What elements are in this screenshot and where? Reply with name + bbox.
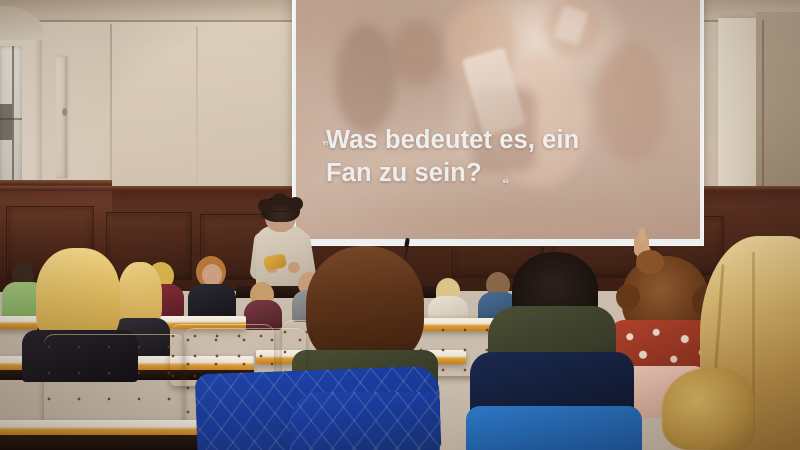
- student-face: [202, 264, 222, 286]
- wall-fixture: [62, 108, 67, 116]
- puffer-jacket-blue-panel: [466, 406, 642, 450]
- wall-pilaster: [56, 56, 67, 178]
- presenter-glasses: [267, 211, 293, 217]
- projection-screen: „ Was bedeutet es, ein Fan zu sein? “: [296, 0, 700, 239]
- slide-title-line-1: Was bedeutet es, ein: [326, 124, 666, 157]
- fur-hood: [662, 368, 754, 450]
- presenter-hair-tuft: [288, 197, 303, 211]
- quote-mark-close-icon: “: [502, 176, 510, 193]
- presenter-hair-tuft: [272, 193, 288, 206]
- raised-finger: [639, 228, 645, 242]
- lecture-hall-photo: „ Was bedeutet es, ein Fan zu sein? “: [0, 0, 800, 450]
- curl: [616, 284, 640, 310]
- student-hair-bob: [306, 246, 424, 366]
- slide-dim-overlay: [296, 0, 700, 239]
- presenter-hand-right: [288, 262, 300, 273]
- blue-quilted-jacket-fold: [290, 392, 440, 450]
- slide-title: Was bedeutet es, ein Fan zu sein?: [326, 124, 666, 189]
- window-mullion-horizontal: [0, 118, 22, 120]
- wainscot-rail-left: [0, 180, 112, 185]
- student-body: [188, 284, 236, 320]
- window-pane-dark: [0, 104, 12, 140]
- curl: [636, 250, 664, 274]
- slide-title-line-2: Fan zu sein?: [326, 157, 666, 190]
- window-mullion-vertical: [12, 46, 14, 198]
